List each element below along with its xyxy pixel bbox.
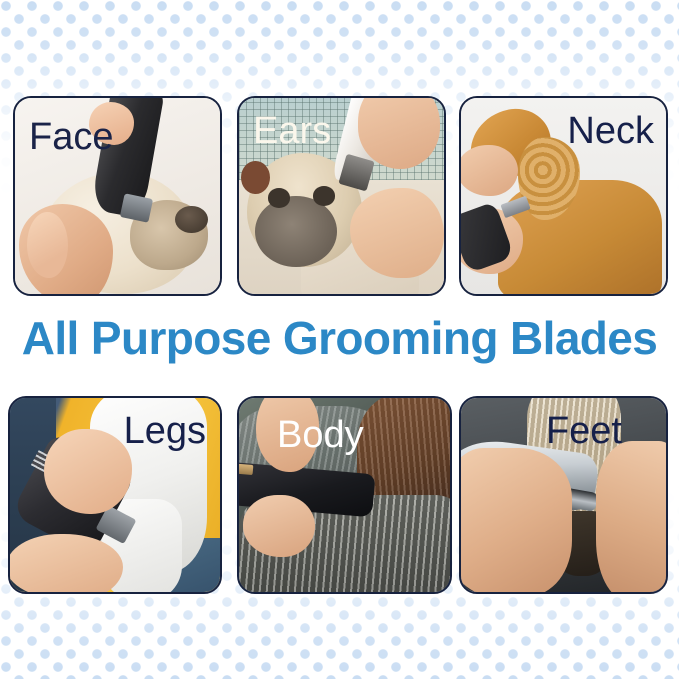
panel-ears[interactable]: Ears — [237, 96, 446, 296]
body-groomer-hand-lower — [243, 495, 315, 557]
face-groomer-thumb — [27, 212, 68, 279]
panel-label-ears: Ears — [253, 112, 331, 150]
panel-body[interactable]: Body — [237, 396, 452, 594]
panel-label-neck: Neck — [567, 112, 654, 150]
face-dog-nose — [175, 206, 208, 233]
panel-label-face: Face — [29, 118, 113, 156]
legs-groomer-hand-upper — [44, 429, 132, 514]
ears-pug-eye-right — [313, 186, 336, 206]
feet-groomer-hand-left — [461, 448, 572, 592]
panel-label-body: Body — [277, 416, 364, 454]
feet-groomer-hand-right — [596, 441, 666, 592]
body-clipper-blade — [239, 463, 254, 475]
panel-neck[interactable]: Neck — [459, 96, 668, 296]
ears-pug-eye-left — [268, 188, 291, 208]
panel-legs[interactable]: Legs — [8, 396, 222, 594]
panel-label-feet: Feet — [546, 412, 622, 450]
page-title: All Purpose Grooming Blades — [0, 311, 679, 365]
ears-pug-ear — [241, 161, 270, 194]
panel-feet[interactable]: Feet — [459, 396, 668, 594]
panel-face[interactable]: Face — [13, 96, 222, 296]
neck-groomer-hand-upper — [461, 145, 518, 196]
panel-label-legs: Legs — [124, 412, 206, 450]
ears-pug-muzzle — [255, 196, 337, 267]
